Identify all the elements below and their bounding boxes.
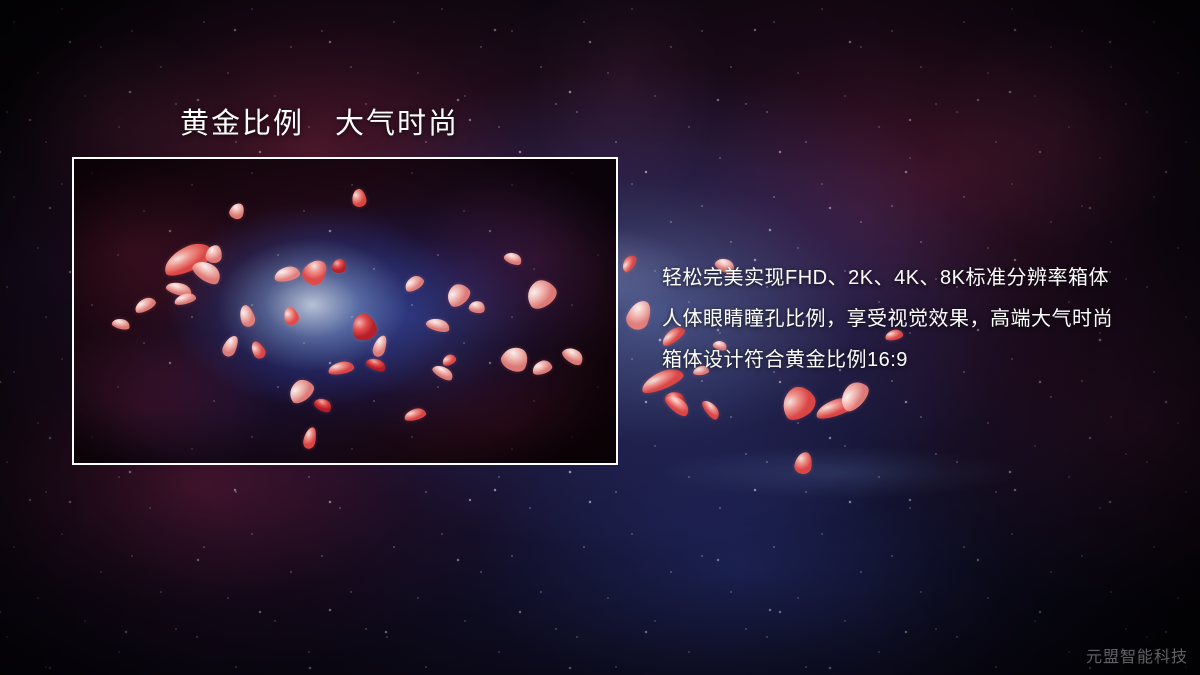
panel-vignette [74,159,616,463]
body-copy: 轻松完美实现FHD、2K、4K、8K标准分辨率箱体 人体眼睛瞳孔比例，享受视觉效… [662,258,1113,381]
led-display-panel [72,157,618,465]
watermark: 元盟智能科技 [1086,643,1188,667]
body-line-3: 箱体设计符合黄金比例16:9 [662,340,1113,381]
body-line-2: 人体眼睛瞳孔比例，享受视觉效果，高端大气时尚 [662,299,1113,340]
page-title: 黄金比例 大气时尚 [180,100,459,142]
body-line-1: 轻松完美实现FHD、2K、4K、8K标准分辨率箱体 [662,258,1113,299]
presentation-slide: 黄金比例 大气时尚 [0,0,1200,675]
